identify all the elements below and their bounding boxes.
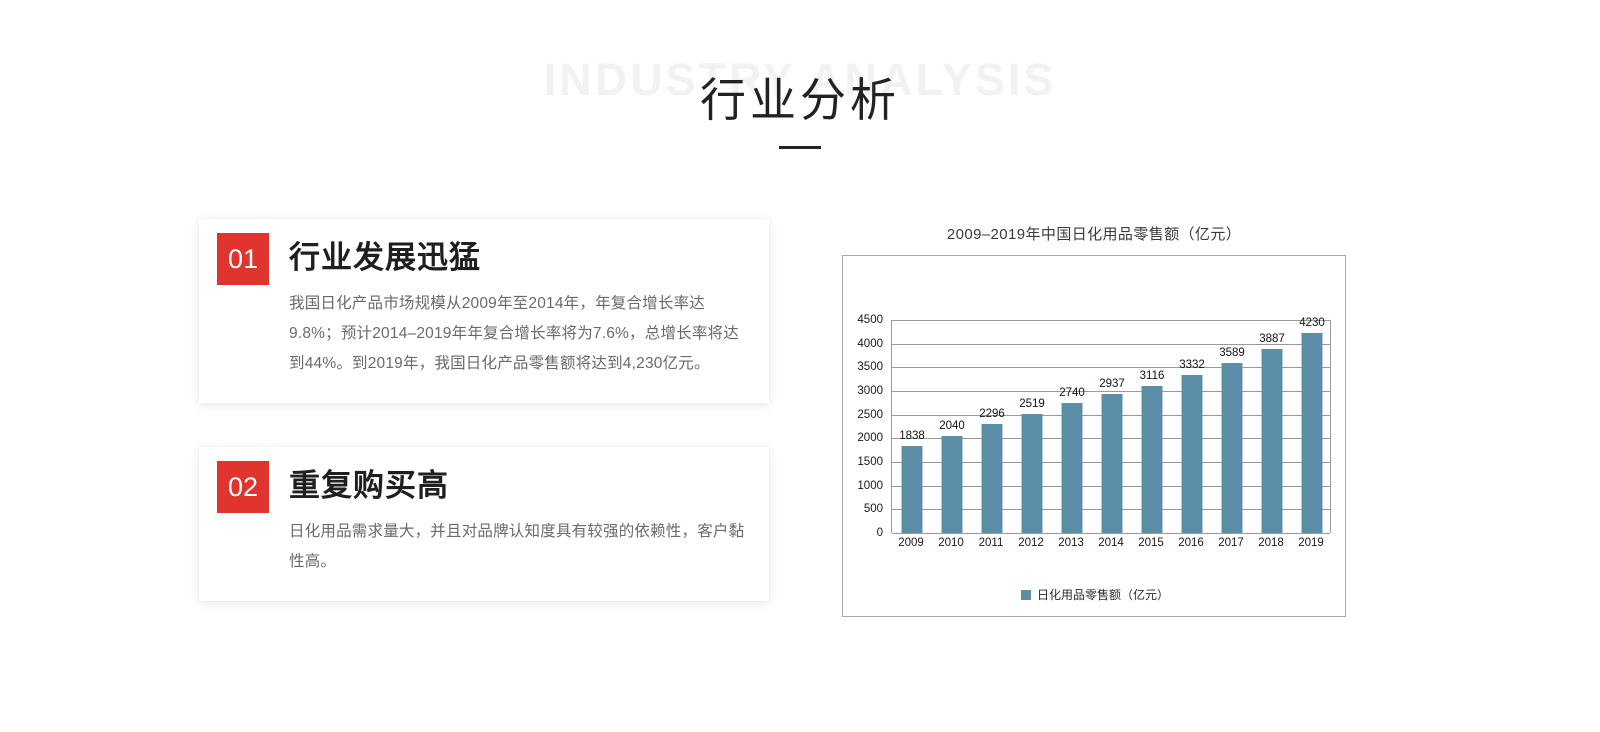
bar-value-label: 2740 — [1059, 387, 1085, 399]
card-body-text: 我国日化产品市场规模从2009年至2014年，年复合增长率达9.8%；预计201… — [289, 289, 747, 379]
x-axis-tick-label: 2016 — [1178, 537, 1204, 549]
bar[interactable] — [1302, 333, 1323, 533]
x-axis-tick-label: 2011 — [979, 537, 1004, 549]
chart-legend: 日化用品零售额（亿元） — [843, 586, 1347, 603]
bar[interactable] — [1062, 403, 1083, 533]
bar[interactable] — [902, 446, 923, 533]
x-axis-tick-label: 2017 — [1218, 537, 1244, 549]
bar[interactable] — [1222, 363, 1243, 533]
x-axis-labels: 2009201020112012201320142015201620172018… — [891, 537, 1331, 555]
feature-card-02[interactable]: 02 重复购买高 日化用品需求量大，并且对品牌认知度具有较强的依赖性，客户黏性高… — [199, 447, 769, 601]
x-axis-tick-label: 2018 — [1258, 537, 1284, 549]
page-title: 行业分析 — [0, 48, 1600, 130]
bar[interactable] — [1182, 375, 1203, 533]
bar-value-label: 4230 — [1299, 317, 1325, 329]
x-axis-tick-label: 2013 — [1058, 537, 1084, 549]
bar-slot: 2296 — [972, 320, 1012, 533]
x-axis-tick-label: 2012 — [1018, 537, 1044, 549]
bar[interactable] — [1102, 394, 1123, 533]
card-header: 01 行业发展迅猛 — [217, 233, 747, 285]
bar-value-label: 2937 — [1099, 378, 1125, 390]
bar-value-label: 3116 — [1140, 370, 1165, 382]
bar-slot: 2040 — [932, 320, 972, 533]
x-axis-tick-label: 2010 — [938, 537, 964, 549]
title-underline-accent — [779, 146, 821, 149]
y-axis-tick-label: 2500 — [857, 409, 883, 421]
bar-slot: 2937 — [1092, 320, 1132, 533]
bar[interactable] — [982, 424, 1003, 533]
y-axis-tick-label: 4000 — [857, 338, 883, 350]
bar-value-label: 3589 — [1219, 347, 1245, 359]
card-header: 02 重复购买高 — [217, 461, 747, 513]
card-number-badge: 02 — [217, 461, 269, 513]
bar-slot: 3332 — [1172, 320, 1212, 533]
bar[interactable] — [1022, 414, 1043, 533]
x-axis-tick-label: 2015 — [1138, 537, 1164, 549]
bar-slot: 2740 — [1052, 320, 1092, 533]
bar[interactable] — [1142, 386, 1163, 533]
chart-plot-area: 1838204022962519274029373116333235893887… — [891, 320, 1331, 533]
y-axis-tick-label: 500 — [864, 503, 883, 515]
page-title-block: INDUSTRY ANALYSIS 行业分析 — [0, 48, 1600, 149]
bar-value-label: 1838 — [899, 430, 925, 442]
legend-swatch-icon — [1021, 590, 1031, 600]
y-axis-labels: 050010001500200025003000350040004500 — [843, 320, 887, 533]
card-heading: 行业发展迅猛 — [289, 233, 481, 283]
y-axis-tick-label: 3500 — [857, 361, 883, 373]
bar-value-label: 3887 — [1259, 333, 1285, 345]
chart-panel: 050010001500200025003000350040004500 183… — [842, 255, 1346, 617]
y-axis-tick-label: 4500 — [857, 314, 883, 326]
slide-industry-analysis: INDUSTRY ANALYSIS 行业分析 01 行业发展迅猛 我国日化产品市… — [0, 0, 1600, 732]
feature-card-list: 01 行业发展迅猛 我国日化产品市场规模从2009年至2014年，年复合增长率达… — [199, 219, 769, 601]
gridline — [892, 533, 1330, 534]
bar-slot: 1838 — [892, 320, 932, 533]
x-axis-tick-label: 2009 — [898, 537, 924, 549]
bar-slot: 3116 — [1132, 320, 1172, 533]
bar-series: 1838204022962519274029373116333235893887… — [892, 320, 1330, 533]
feature-card-01[interactable]: 01 行业发展迅猛 我国日化产品市场规模从2009年至2014年，年复合增长率达… — [199, 219, 769, 403]
card-heading: 重复购买高 — [289, 461, 449, 511]
bar-value-label: 2040 — [939, 420, 965, 432]
bar[interactable] — [942, 436, 963, 533]
bar-value-label: 2519 — [1019, 398, 1045, 410]
y-axis-tick-label: 3000 — [857, 385, 883, 397]
chart-title: 2009–2019年中国日化用品零售额（亿元） — [842, 223, 1346, 244]
bar[interactable] — [1262, 349, 1283, 533]
card-number-badge: 01 — [217, 233, 269, 285]
legend-label: 日化用品零售额（亿元） — [1037, 586, 1169, 603]
x-axis-tick-label: 2014 — [1098, 537, 1124, 549]
bar-slot: 4230 — [1292, 320, 1332, 533]
y-axis-tick-label: 1000 — [857, 480, 883, 492]
y-axis-tick-label: 0 — [877, 527, 883, 539]
y-axis-tick-label: 1500 — [857, 456, 883, 468]
y-axis-tick-label: 2000 — [857, 432, 883, 444]
bar-slot: 3887 — [1252, 320, 1292, 533]
x-axis-tick-label: 2019 — [1298, 537, 1324, 549]
bar-slot: 3589 — [1212, 320, 1252, 533]
bar-slot: 2519 — [1012, 320, 1052, 533]
bar-value-label: 3332 — [1179, 359, 1205, 371]
bar-value-label: 2296 — [979, 408, 1005, 420]
card-body-text: 日化用品需求量大，并且对品牌认知度具有较强的依赖性，客户黏性高。 — [289, 517, 747, 577]
